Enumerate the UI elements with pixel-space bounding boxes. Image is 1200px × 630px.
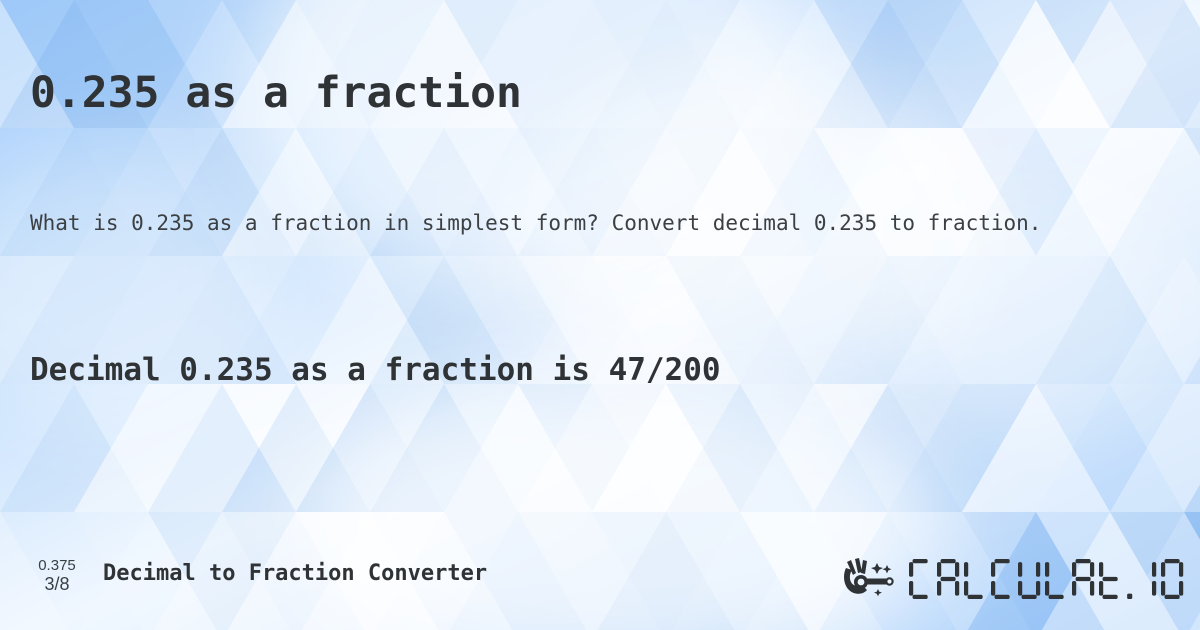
logo-char-c (909, 559, 936, 599)
conversion-result: Decimal 0.235 as a fraction is 47/200 (30, 352, 721, 388)
page-title: 0.235 as a fraction (30, 69, 522, 118)
footer-tool-name: Decimal to Fraction Converter (103, 561, 487, 586)
calculatio-wordmark (909, 559, 1188, 599)
decimal-fraction-mark-icon: 0.375 3/8 (26, 558, 88, 594)
mark-fraction-value: 3/8 (26, 575, 88, 594)
logo-char-u (1018, 559, 1045, 599)
logo-char-o (1161, 559, 1188, 599)
calculatio-logo[interactable] (841, 556, 1188, 602)
logo-char-a (937, 559, 964, 599)
logo-char-c (991, 559, 1018, 599)
logo-char-i (1134, 559, 1161, 599)
logo-char-l (1045, 559, 1072, 599)
page-description: What is 0.235 as a fraction in simplest … (30, 206, 1090, 240)
hand-magic-wand-icon (841, 556, 903, 602)
mark-decimal-value: 0.375 (26, 558, 88, 574)
logo-char-l (964, 559, 991, 599)
logo-char-dot (1126, 559, 1134, 599)
logo-char-a (1072, 559, 1099, 599)
logo-char-t (1099, 559, 1126, 599)
og-card: 0.235 as a fraction What is 0.235 as a f… (0, 0, 1200, 630)
footer: 0.375 3/8 Decimal to Fraction Converter (0, 556, 1200, 604)
